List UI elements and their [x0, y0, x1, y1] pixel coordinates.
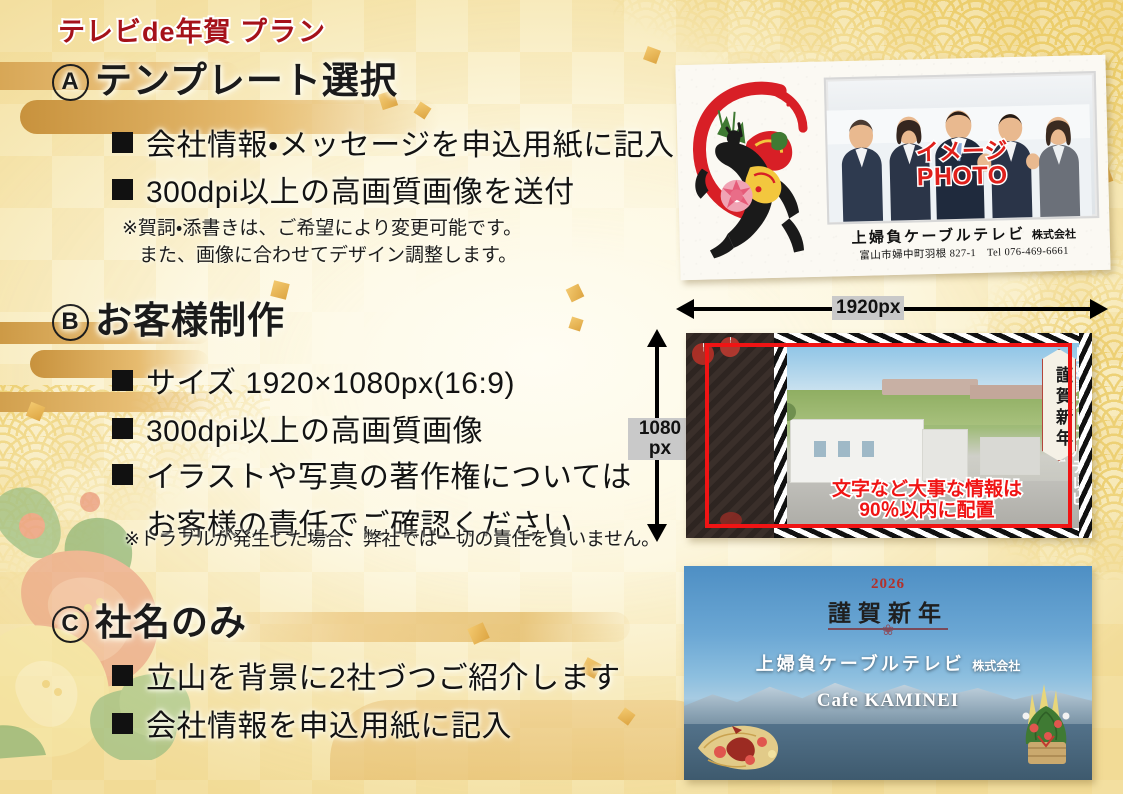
- card-c-company-label: 上婦負ケーブルテレビ: [756, 654, 965, 674]
- photo-placeholder-frame: イメージ PHOTO: [824, 71, 1100, 225]
- section-heading-a-label: テンプレート選択: [95, 60, 398, 101]
- plan-title-main: テレビde年賀: [58, 17, 232, 47]
- bullet-b-2-label: 300dpi以上の高画質画像: [146, 415, 483, 448]
- template-card-a-preview: イメージ PHOTO 上婦負ケーブルテレビ 株式会社 富山市婦中町羽根 827-…: [675, 55, 1110, 280]
- section-heading-c: C社名のみ: [52, 592, 247, 646]
- bullet-b-1: サイズ 1920×1080px(16:9): [112, 358, 515, 402]
- bullet-b-3-label: イラストや写真の著作権については: [146, 461, 632, 494]
- photo-placeholder-label: イメージ PHOTO: [827, 136, 1096, 193]
- safe-area-warning-line1: 文字など大事な情報は: [776, 479, 1078, 501]
- note-b: ※トラブルが発生した場合、弊社では一切の責任を負いません。: [124, 527, 660, 554]
- bullet-square-icon: [112, 464, 133, 485]
- section-marker-b: B: [52, 304, 89, 341]
- bullet-c-1-label: 立山を背景に2社づつご紹介します: [146, 662, 621, 695]
- note-a-line2: また、画像に合わせてデザイン調整します。: [139, 243, 522, 270]
- horse-illustration: [682, 70, 823, 263]
- bullet-a-2: 300dpi以上の高画質画像を送付: [112, 167, 575, 211]
- section-heading-c-label: 社名のみ: [95, 602, 247, 643]
- note-b-line1: ※トラブルが発生した場合、弊社では一切の責任を負いません。: [124, 529, 660, 550]
- poster-canvas: テレビde年賀 プラン Aテンプレート選択 会社情報・メッセージを申込用紙に記入…: [0, 0, 1123, 794]
- bullet-b-2: 300dpi以上の高画質画像: [112, 406, 483, 450]
- kadomatsu-ornament: [1010, 676, 1082, 774]
- plan-title: テレビde年賀 プラン: [58, 10, 327, 49]
- card-b-stripe-bottom: [774, 528, 1092, 538]
- section-marker-c: C: [52, 606, 89, 643]
- bullet-c-2-label: 会社情報を申込用紙に記入: [146, 710, 512, 743]
- note-a: ※賀詞・添書きは、ご希望により変更可能です。 また、画像に合わせてデザイン調整し…: [122, 216, 522, 270]
- safe-area-warning: 文字など大事な情報は 90％以内に配置: [776, 479, 1078, 522]
- card-c-company-name: 上婦負ケーブルテレビ 株式会社: [684, 650, 1092, 676]
- plan-title-sub: プラン: [240, 17, 327, 47]
- customer-made-card-b-preview: 上婦負ケーブルテレビ 株式会社 富山市婦中町羽根827-1 Tel 076-46…: [686, 333, 1092, 538]
- note-a-line1: ※賀詞・添書きは、ご希望により変更可能です。: [122, 218, 522, 239]
- bullet-square-icon: [112, 665, 133, 686]
- bullet-a-2-label: 300dpi以上の高画質画像を送付: [146, 176, 575, 209]
- section-heading-a: Aテンプレート選択: [52, 50, 398, 104]
- width-dimension-label: 1920px: [832, 296, 904, 320]
- horse-fan-ornament: [694, 704, 790, 772]
- bullet-square-icon: [112, 370, 133, 391]
- safe-area-warning-line2: 90％以内に配置: [776, 500, 1078, 522]
- company-name-only-card-c-preview: 2026 謹賀新年 ❀ 上婦負ケーブルテレビ 株式会社 Cafe KAMINEI: [684, 566, 1092, 780]
- bullet-square-icon: [112, 132, 133, 153]
- bullet-square-icon: [112, 418, 133, 439]
- card-a-company-suffix: 株式会社: [1032, 229, 1076, 242]
- section-heading-b-label: お客様制作: [95, 300, 285, 341]
- card-b-stripe-right: [1079, 333, 1092, 538]
- content-column: テレビde年賀 プラン Aテンプレート選択 会社情報・メッセージを申込用紙に記入…: [0, 0, 660, 794]
- bullet-square-icon: [112, 713, 133, 734]
- height-dimension-unit: px: [632, 439, 688, 459]
- height-dimension-value: 1080: [632, 419, 688, 439]
- mizuhiki-knot-icon: ❀: [882, 621, 895, 639]
- height-dimension-label: 1080 px: [628, 418, 692, 460]
- bullet-b-1-label: サイズ 1920×1080px(16:9): [146, 367, 515, 400]
- bullet-c-2: 会社情報を申込用紙に記入: [112, 701, 512, 745]
- bullet-a-1-label: 会社情報・メッセージを申込用紙に記入: [146, 129, 675, 162]
- card-c-company-suffix: 株式会社: [972, 659, 1020, 673]
- bullet-a-1: 会社情報・メッセージを申込用紙に記入: [112, 120, 675, 164]
- section-marker-a: A: [52, 64, 89, 101]
- card-c-divider: [828, 628, 948, 630]
- card-b-stripe-top: [774, 333, 1092, 343]
- bullet-c-1: 立山を背景に2社づつご紹介します: [112, 653, 621, 697]
- section-heading-b: Bお客様制作: [52, 290, 285, 344]
- bullet-square-icon: [112, 179, 133, 200]
- card-c-year: 2026: [684, 576, 1092, 593]
